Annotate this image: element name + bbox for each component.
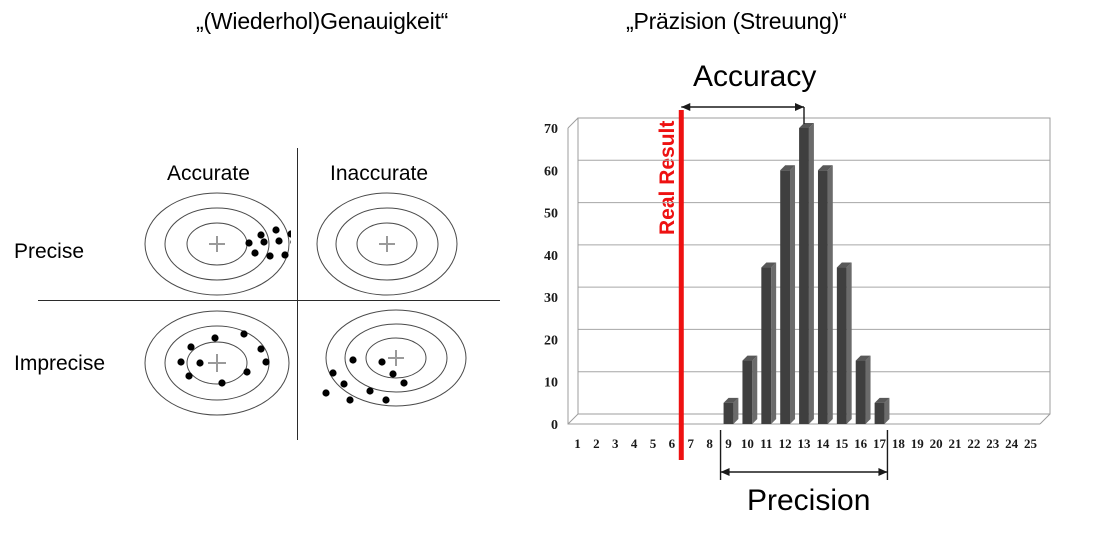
target-inaccurate-precise xyxy=(315,190,475,298)
target-dot xyxy=(218,379,225,386)
target-dot xyxy=(349,356,356,363)
bar xyxy=(856,361,866,424)
row-label-imprecise: Imprecise xyxy=(14,352,105,376)
bar xyxy=(724,403,734,424)
target-accurate-imprecise xyxy=(143,308,291,418)
target-dot xyxy=(266,252,273,259)
y-tick-label: 10 xyxy=(544,376,558,391)
axis-back-wall xyxy=(578,118,1050,414)
target-dot xyxy=(262,358,269,365)
chart-gridlines xyxy=(578,118,1050,414)
bar xyxy=(780,170,790,424)
target-dot xyxy=(187,343,194,350)
target-dot xyxy=(272,226,279,233)
x-tick-label: 12 xyxy=(779,436,792,451)
column-label-inaccurate: Inaccurate xyxy=(330,162,428,186)
bar-side xyxy=(866,356,871,424)
target-dot xyxy=(346,396,353,403)
x-tick-label: 15 xyxy=(835,436,849,451)
target-dot xyxy=(257,231,264,238)
axis-depth-bottom xyxy=(568,414,578,424)
accuracy-precision-quadrant-diagram: Accurate Inaccurate Precise Imprecise xyxy=(0,130,500,450)
target-center-plus-icon xyxy=(379,236,395,252)
x-tick-label: 6 xyxy=(669,436,676,451)
quadrant-vertical-divider xyxy=(297,148,298,440)
y-tick-label: 50 xyxy=(544,207,558,222)
x-tick-label: 4 xyxy=(631,436,638,451)
x-tick-label: 2 xyxy=(593,436,600,451)
bar-side xyxy=(790,165,795,424)
x-tick-label: 9 xyxy=(725,436,732,451)
bar-side xyxy=(828,165,833,424)
x-tick-label: 16 xyxy=(854,436,868,451)
target-dot xyxy=(185,372,192,379)
y-tick-label: 30 xyxy=(544,291,558,306)
target-dot xyxy=(290,238,291,245)
target-dot xyxy=(251,249,258,256)
target-dot xyxy=(243,368,250,375)
y-tick-label: 20 xyxy=(544,333,558,348)
accuracy-arrow-head-left xyxy=(681,103,690,111)
target-dot xyxy=(281,251,288,258)
target-center-plus-icon xyxy=(209,236,225,252)
x-tick-label: 19 xyxy=(911,436,925,451)
chart-x-tick-labels: 1234567891011121314151617181920212223242… xyxy=(574,436,1037,451)
chart-bars xyxy=(724,123,890,424)
precision-arrow-head-right xyxy=(878,468,887,476)
target-dot xyxy=(340,380,347,387)
target-dot xyxy=(240,330,247,337)
target-dot xyxy=(245,239,252,246)
precision-annotation-label: Precision xyxy=(747,484,870,518)
bar xyxy=(818,170,828,424)
target-dot xyxy=(389,370,396,377)
target-dot xyxy=(329,369,336,376)
chart-plot-svg: 010203040506070 123456789101112131415161… xyxy=(520,60,1120,480)
target-center-plus-icon xyxy=(208,354,226,372)
chart-y-tick-labels: 010203040506070 xyxy=(544,122,558,433)
bar-side xyxy=(771,263,776,424)
x-tick-label: 13 xyxy=(798,436,812,451)
y-tick-label: 60 xyxy=(544,164,558,179)
target-dot xyxy=(257,345,264,352)
row-label-precise: Precise xyxy=(14,240,84,264)
x-tick-label: 8 xyxy=(706,436,713,451)
precision-accuracy-histogram: Accuracy Real Result 010203040506070 123… xyxy=(520,60,1120,533)
right-figure-title: „Präzision (Streuung)“ xyxy=(626,8,847,35)
x-tick-label: 17 xyxy=(873,436,887,451)
target-dot xyxy=(378,358,385,365)
column-label-accurate: Accurate xyxy=(167,162,250,186)
bar-side xyxy=(809,123,814,424)
x-tick-label: 5 xyxy=(650,436,657,451)
target-dot xyxy=(196,359,203,366)
x-tick-label: 20 xyxy=(930,436,943,451)
x-tick-label: 22 xyxy=(967,436,980,451)
left-figure-title: „(Wiederhol)Genauigkeit“ xyxy=(196,8,448,35)
target-dot xyxy=(275,237,282,244)
bar xyxy=(742,361,752,424)
target-accurate-precise xyxy=(143,190,291,298)
target-dot xyxy=(322,389,329,396)
bar xyxy=(837,268,847,424)
x-tick-label: 14 xyxy=(816,436,830,451)
target-inaccurate-imprecise xyxy=(308,308,483,428)
y-tick-label: 40 xyxy=(544,249,558,264)
target-dot xyxy=(400,379,407,386)
quadrant-horizontal-divider xyxy=(38,300,500,301)
bar xyxy=(799,128,809,424)
precision-arrow-head-left xyxy=(721,468,730,476)
x-tick-label: 1 xyxy=(574,436,581,451)
x-tick-label: 11 xyxy=(760,436,772,451)
target-dot xyxy=(366,387,373,394)
y-tick-label: 0 xyxy=(551,418,558,433)
bar xyxy=(761,268,771,424)
bar-side xyxy=(752,356,757,424)
bar xyxy=(875,403,885,424)
x-tick-label: 10 xyxy=(741,436,754,451)
accuracy-arrow-head-right xyxy=(795,103,804,111)
x-tick-label: 25 xyxy=(1024,436,1038,451)
bar-side xyxy=(847,263,852,424)
axis-depth-top xyxy=(568,118,578,128)
x-tick-label: 23 xyxy=(986,436,1000,451)
x-tick-label: 3 xyxy=(612,436,619,451)
target-dot xyxy=(211,334,218,341)
x-tick-label: 18 xyxy=(892,436,906,451)
target-dot xyxy=(382,396,389,403)
axis-depth-right xyxy=(1040,414,1050,424)
target-center-plus-icon xyxy=(388,350,404,366)
target-dot xyxy=(260,238,267,245)
target-dot xyxy=(177,358,184,365)
x-tick-label: 24 xyxy=(1005,436,1019,451)
x-tick-label: 7 xyxy=(687,436,694,451)
x-tick-label: 21 xyxy=(949,436,962,451)
y-tick-label: 70 xyxy=(544,122,558,137)
